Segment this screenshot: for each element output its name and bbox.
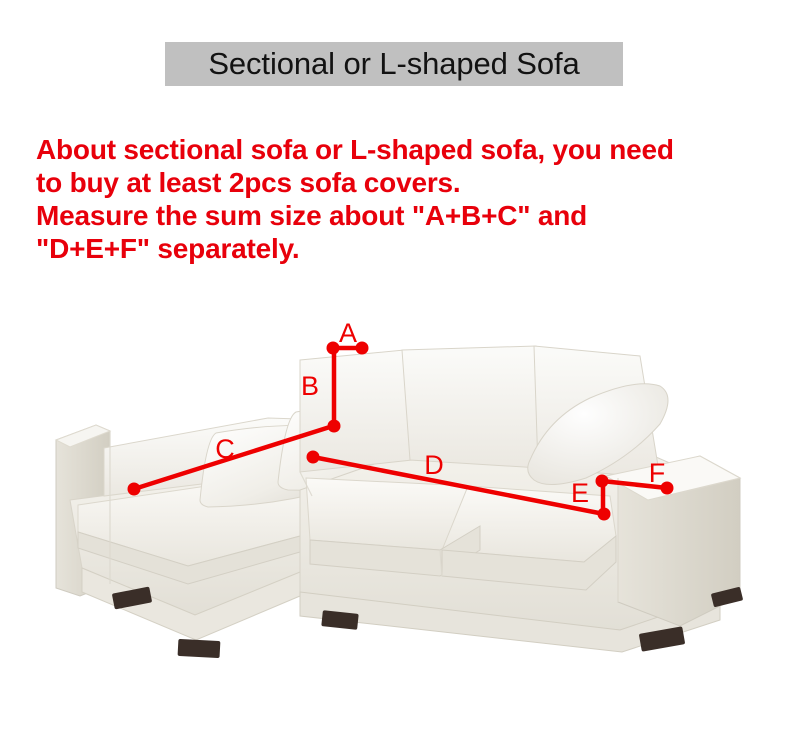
- page-title: Sectional or L-shaped Sofa: [208, 46, 579, 82]
- instruction-block: About sectional sofa or L-shaped sofa, y…: [36, 133, 786, 265]
- back-cushion-middle: [402, 346, 540, 468]
- main-sofa-section: [300, 346, 743, 652]
- chaise-leg-front: [178, 639, 221, 658]
- instruction-line-2: to buy at least 2pcs sofa covers.: [36, 166, 786, 199]
- sofa-illustration: [0, 300, 800, 660]
- page-title-box: Sectional or L-shaped Sofa: [165, 42, 623, 86]
- sofa-measurement-infographic: Sectional or L-shaped Sofa About section…: [0, 0, 800, 735]
- sofa-diagram: A B C D E F: [0, 300, 800, 660]
- instruction-line-4: "D+E+F" separately.: [36, 232, 786, 265]
- instruction-line-3: Measure the sum size about "A+B+C" and: [36, 199, 786, 232]
- instruction-line-1: About sectional sofa or L-shaped sofa, y…: [36, 133, 786, 166]
- back-cushion-left: [300, 350, 412, 472]
